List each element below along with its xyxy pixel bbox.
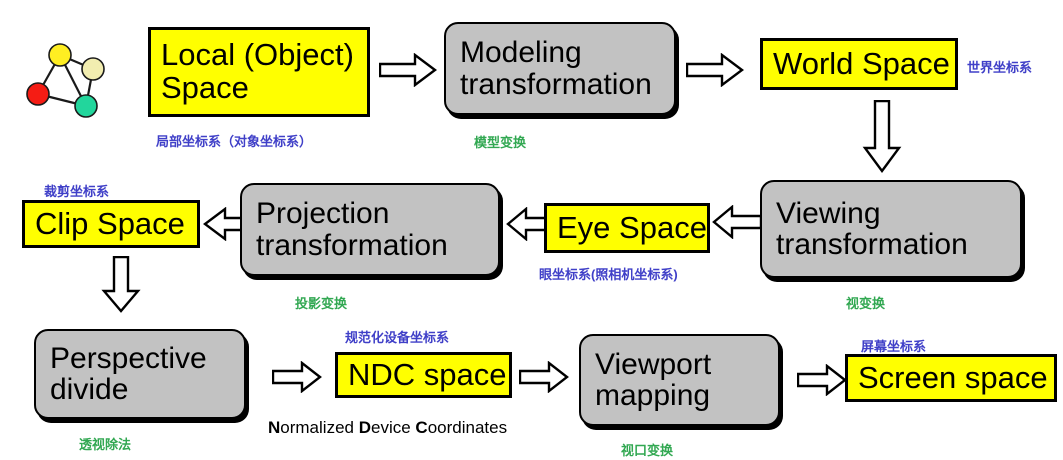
node-local-object-space: Local (Object) Space [148,27,370,117]
node-ndc-space: NDC space [335,352,512,398]
graph-vertex-green [75,95,97,117]
arrow-perspective-to-ndc-icon [272,361,322,393]
caption-world-space: 世界坐标系 [967,57,1032,76]
node-perspective-divide-line1: Perspective [50,343,207,375]
node-local-object-space-line2: Space [161,72,354,105]
caption-modeling-transformation: 模型变换 [474,132,526,151]
arrow-viewport-to-screen-icon [797,364,847,396]
caption-projection-transformation: 投影变换 [295,293,347,312]
ndc-expansion-d: D [359,418,371,437]
graph-vertex-pale-yellow [82,58,104,80]
node-perspective-divide-line2: divide [50,374,207,406]
node-world-space-label: World Space [773,48,950,81]
node-viewport-mapping-line1: Viewport [595,349,711,381]
arrow-ndc-to-viewport-icon [519,361,569,393]
caption-perspective-divide: 透视除法 [79,434,131,453]
caption-clip-space: 裁剪坐标系 [44,181,109,200]
node-local-object-space-line1: Local (Object) [161,39,354,72]
node-modeling-transformation-line2: transformation [460,69,652,101]
ndc-expansion-oordinates: oordinates [428,418,507,437]
node-modeling-transformation: Modeling transformation [444,22,676,115]
node-projection-transformation: Projection transformation [240,183,500,276]
ndc-expansion-text: Normalized Device Coordinates [268,418,507,438]
caption-screen-space: 屏幕坐标系 [861,336,926,355]
node-screen-space: Screen space [845,354,1057,402]
ndc-expansion-ormalized: ormalized [280,418,358,437]
arrow-local-to-modeling-icon [379,53,437,87]
caption-eye-space: 眼坐标系(照相机坐标系) [539,264,678,283]
node-eye-space: Eye Space [544,203,710,253]
graph-vertex-red [27,83,49,105]
node-eye-space-label: Eye Space [557,212,707,245]
graph-vertex-yellow-top [49,44,71,66]
caption-viewport-mapping: 视口变换 [621,440,673,459]
node-screen-space-label: Screen space [858,362,1048,395]
arrow-viewing-to-eye-icon [712,205,762,239]
node-viewing-transformation: Viewing transformation [760,180,1022,278]
node-world-space: World Space [760,38,958,90]
caption-viewing-transformation: 视变换 [846,293,885,312]
node-modeling-transformation-line1: Modeling [460,37,652,69]
node-viewing-transformation-line1: Viewing [776,198,968,230]
node-viewport-mapping-line2: mapping [595,380,711,412]
node-clip-space-label: Clip Space [35,208,185,241]
node-viewport-mapping: Viewport mapping [579,334,780,426]
node-projection-transformation-line2: transformation [256,230,448,262]
node-clip-space: Clip Space [22,200,200,248]
arrow-world-to-viewing-icon [862,100,902,174]
ndc-expansion-n: N [268,418,280,437]
node-ndc-space-label: NDC space [348,359,507,392]
wireframe-object-graph [14,16,118,128]
arrow-clip-to-perspective-icon [101,256,141,314]
caption-local-object-space: 局部坐标系（对象坐标系） [156,131,312,150]
node-perspective-divide: Perspective divide [34,329,246,419]
ndc-expansion-evice: evice [371,418,415,437]
arrow-modeling-to-world-icon [686,53,744,87]
caption-ndc-space: 规范化设备坐标系 [345,327,449,346]
diagram-canvas: Local (Object) Space 局部坐标系（对象坐标系） Modeli… [0,0,1063,460]
node-projection-transformation-line1: Projection [256,198,448,230]
ndc-expansion-c: C [415,418,427,437]
node-viewing-transformation-line2: transformation [776,229,968,261]
